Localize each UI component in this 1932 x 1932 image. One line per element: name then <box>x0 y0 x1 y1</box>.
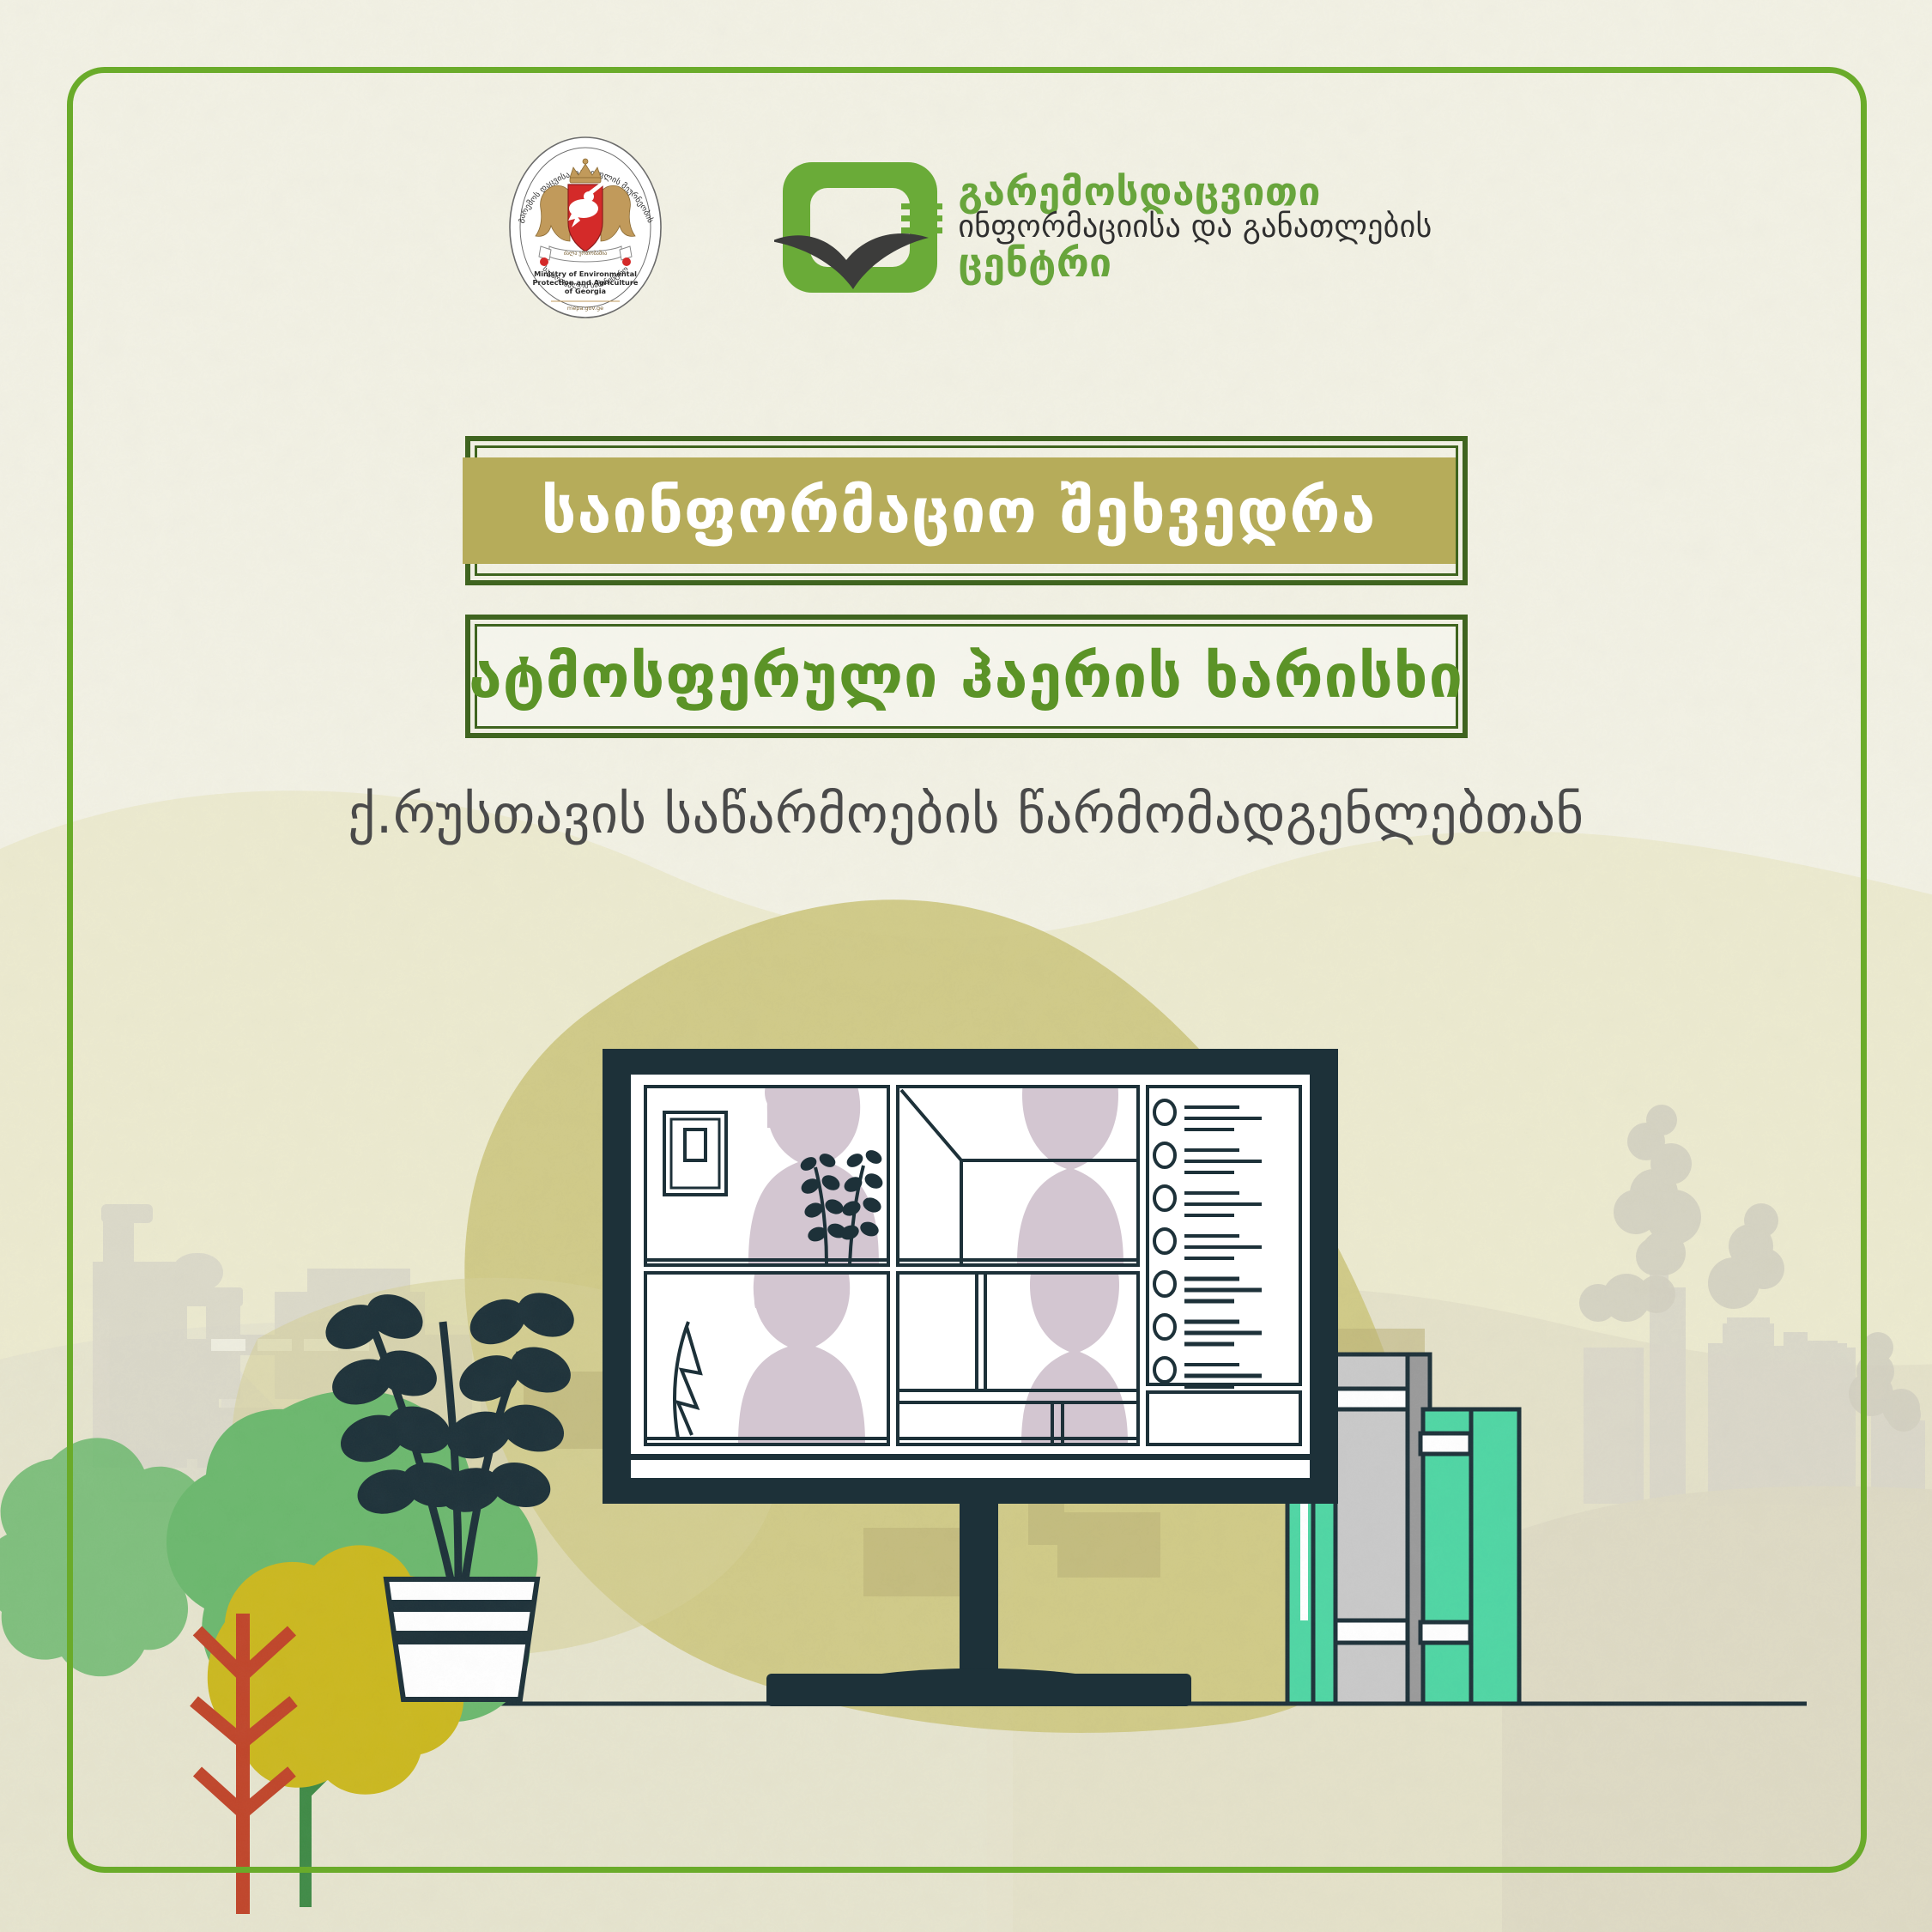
subtitle-text: ქ.რუსთავის საწარმოების წარმომადგენლებთან <box>0 783 1932 845</box>
seal-en-line1: Ministry of Environmental <box>534 270 637 278</box>
seal-url: mepa.gov.ge <box>567 305 603 312</box>
banner-secondary: ატმოსფერული ჰაერის ხარისხი <box>465 615 1468 738</box>
monitor-stand-neck <box>960 1476 998 1699</box>
title-block: საინფორმაციო შეხვედრა ატმოსფერული ჰაერის… <box>0 436 1932 845</box>
geiec-line2: ინფორმაციისა და განათლების <box>958 212 1432 244</box>
header-logos: გარემოს დაცვისა და სოფლის მეურნეობის საქ… <box>0 129 1932 326</box>
geiec-logo-mark <box>774 150 946 305</box>
ministry-seal: გარემოს დაცვისა და სოფლის მეურნეობის საქ… <box>500 133 671 322</box>
monitor-stand-base <box>766 1674 1191 1706</box>
geiec-line3: ცენტრი <box>958 243 1432 283</box>
banner-primary-text: საინფორმაციო შეხვედრა <box>542 475 1377 547</box>
seal-en-line2: Protection and Agriculture <box>533 278 639 287</box>
banner-secondary-text: ატმოსფერული ჰაერის ხარისხი <box>469 641 1463 712</box>
banner-primary: საინფორმაციო შეხვედრა <box>465 436 1468 585</box>
poster-canvas: გარემოს დაცვისა და სოფლის მეურნეობის საქ… <box>0 0 1932 1932</box>
seal-en-line3: of Georgia <box>565 287 606 295</box>
svg-text:ძალა ერთობაშია: ძალა ერთობაშია <box>564 251 607 257</box>
geiec-line1: გარემოსდაცვითი <box>958 172 1432 212</box>
chat-panel <box>1148 1392 1300 1444</box>
geiec-logo: გარემოსდაცვითი ინფორმაციისა და განათლები… <box>774 150 1432 305</box>
